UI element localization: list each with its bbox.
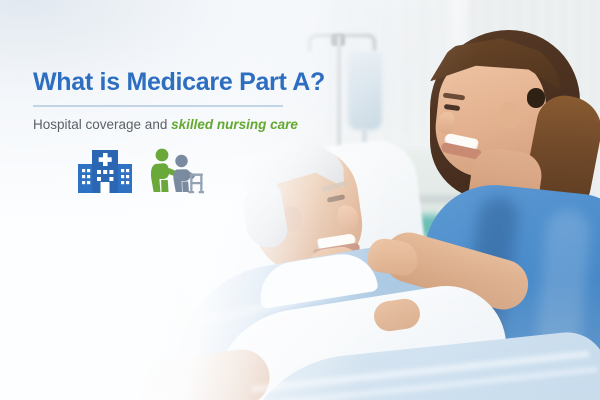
page-title: What is Medicare Part A? (33, 68, 303, 96)
subtitle-prefix: Hospital coverage and (33, 117, 171, 132)
hospital-building-icon (78, 148, 132, 194)
subtitle: Hospital coverage and skilled nursing ca… (33, 117, 303, 133)
subtitle-accent: skilled nursing care (171, 117, 298, 132)
left-white-scrim (0, 0, 600, 400)
feature-icon-row (78, 148, 204, 194)
skilled-nursing-walker-icon (148, 148, 204, 194)
title-divider (33, 105, 283, 107)
medicare-part-a-banner: What is Medicare Part A? Hospital covera… (0, 0, 600, 400)
headline-block: What is Medicare Part A? Hospital covera… (33, 68, 303, 133)
